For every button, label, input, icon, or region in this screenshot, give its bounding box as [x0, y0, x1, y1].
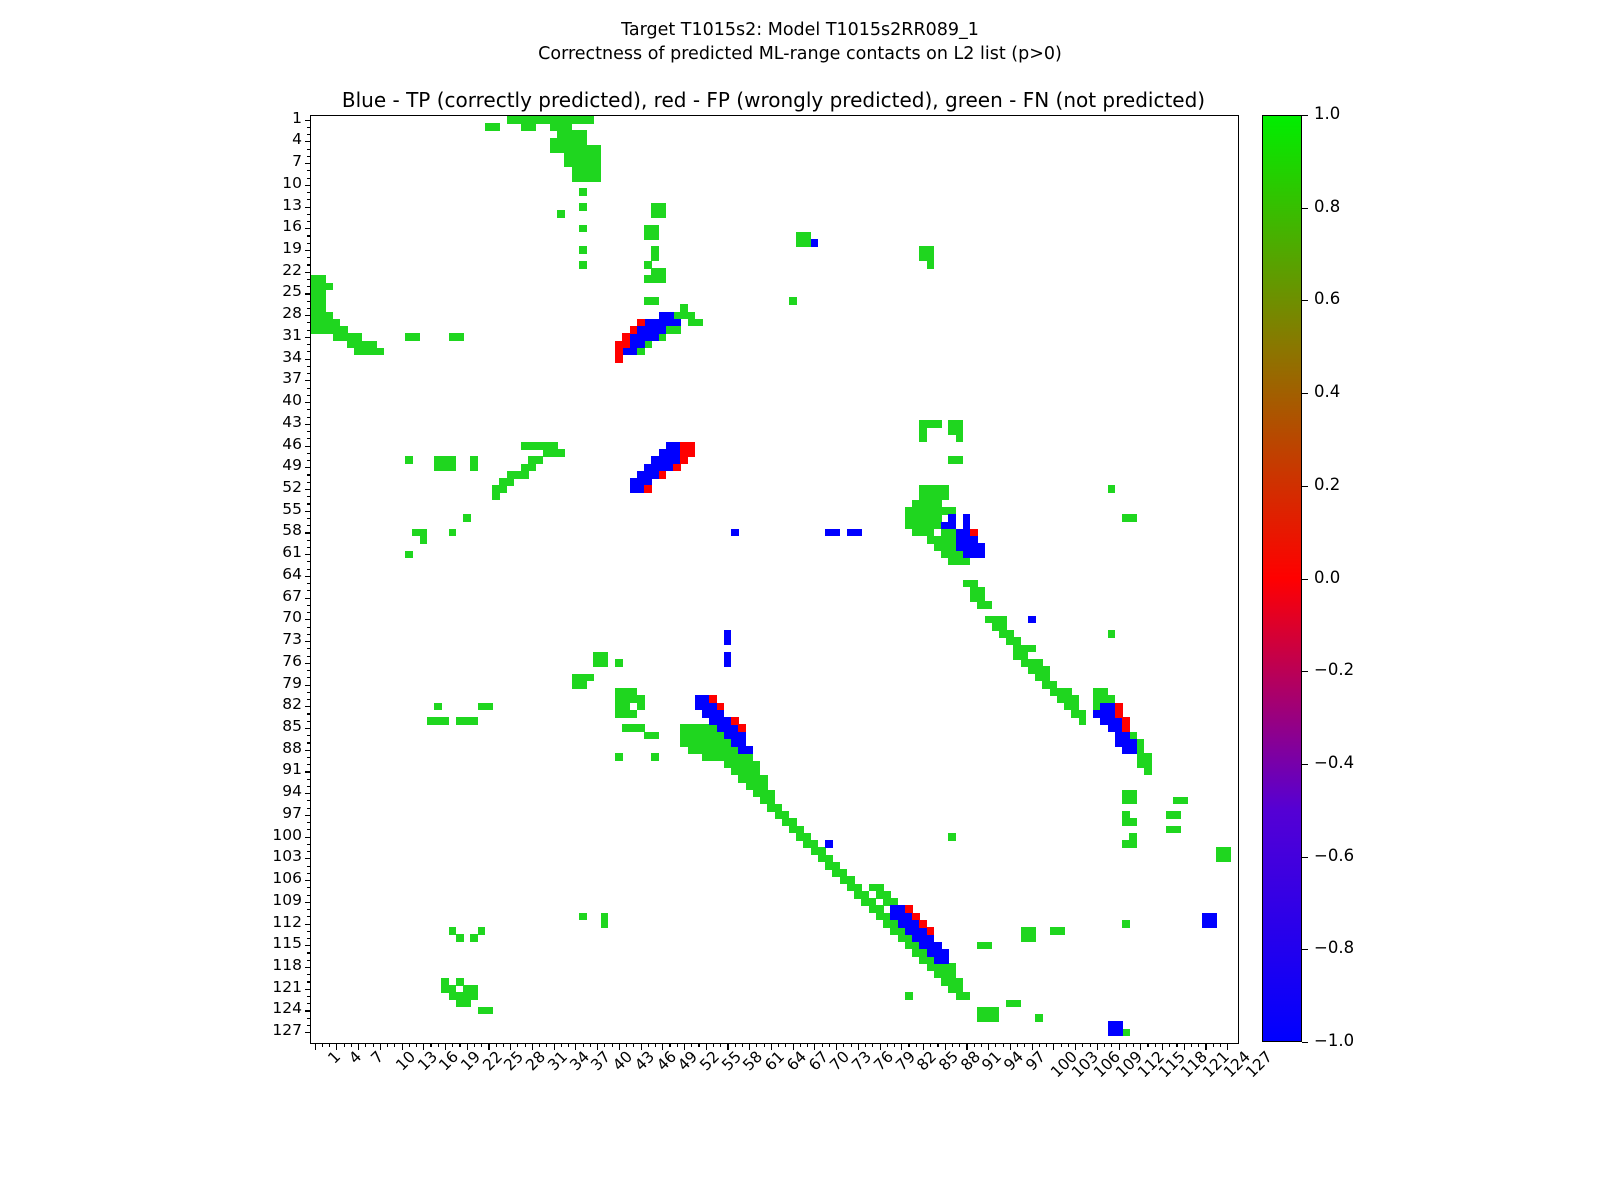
y-tick-minor — [307, 178, 311, 179]
y-tick-minor — [307, 583, 311, 584]
x-tick-minor — [1220, 1043, 1221, 1047]
contact-cell-fn — [1122, 920, 1130, 928]
y-tick-label: 1 — [292, 111, 302, 127]
y-tick-minor — [307, 822, 311, 823]
y-tick-label: 103 — [272, 849, 302, 865]
y-tick-label: 127 — [272, 1023, 302, 1039]
contact-cell-fn — [1013, 1000, 1021, 1008]
y-tick-minor — [307, 235, 311, 236]
x-tick-minor — [1082, 1043, 1083, 1047]
contact-cell-fn — [434, 703, 442, 711]
x-tick-minor — [742, 1043, 743, 1047]
x-tick-minor — [981, 1043, 982, 1047]
y-tick-major — [305, 945, 312, 946]
contact-cell-tp — [746, 746, 754, 754]
contact-cell-fn — [1173, 811, 1181, 819]
y-tick-label: 82 — [282, 697, 302, 713]
colorbar-tick — [1302, 300, 1308, 301]
contact-cell-fp — [970, 529, 978, 537]
contact-cell-fn — [956, 456, 964, 464]
y-tick-minor — [307, 453, 311, 454]
y-tick-minor — [307, 800, 311, 801]
contact-cell-fn — [557, 210, 565, 218]
y-tick-minor — [307, 1003, 311, 1004]
y-tick-major — [305, 380, 312, 381]
x-tick-minor — [713, 1043, 714, 1047]
y-tick-major — [305, 619, 312, 620]
contact-cell-tp — [811, 239, 819, 247]
x-tick-minor — [626, 1043, 627, 1047]
y-tick-minor — [307, 395, 311, 396]
contact-cell-fn — [470, 992, 478, 1000]
x-tick-minor — [829, 1043, 830, 1047]
contact-cell-fn — [644, 341, 652, 349]
x-tick-minor — [1169, 1043, 1170, 1047]
contact-cell-fn — [1122, 1029, 1130, 1037]
x-tick-minor — [1003, 1043, 1004, 1047]
contact-cell-fn — [521, 471, 529, 479]
y-tick-label: 64 — [282, 567, 302, 583]
y-tick-minor — [307, 931, 311, 932]
y-tick-minor — [307, 786, 311, 787]
contact-cell-fn — [630, 710, 638, 718]
contact-cell-fn — [1129, 840, 1137, 848]
contact-cell-fn — [695, 319, 703, 327]
y-tick-minor — [307, 895, 311, 896]
title-line-1: Target T1015s2: Model T1015s2RR089_1 — [0, 18, 1600, 42]
y-tick-minor — [307, 873, 311, 874]
contact-cell-fn — [1129, 514, 1137, 522]
contact-cell-fn — [579, 188, 587, 196]
contact-cell-fn — [557, 449, 565, 457]
y-tick-minor — [307, 127, 311, 128]
y-tick-minor — [307, 648, 311, 649]
y-tick-minor — [307, 960, 311, 961]
contact-cell-fn — [325, 283, 333, 291]
contact-cell-fn — [1108, 630, 1116, 638]
x-tick-minor — [1176, 1043, 1177, 1047]
contact-cell-fn — [956, 435, 964, 443]
y-tick-label: 85 — [282, 719, 302, 735]
contact-cell-fn — [485, 703, 493, 711]
y-tick-label: 115 — [272, 936, 302, 952]
y-tick-label: 31 — [282, 328, 302, 344]
contact-cell-fn — [528, 464, 536, 472]
contact-cell-fn — [963, 992, 971, 1000]
x-tick-minor — [691, 1043, 692, 1047]
y-tick-minor — [307, 909, 311, 910]
y-tick-minor — [307, 670, 311, 671]
y-tick-minor — [307, 742, 311, 743]
x-tick-minor — [1068, 1043, 1069, 1047]
y-tick-label: 121 — [272, 980, 302, 996]
contact-cell-fn — [1028, 934, 1036, 942]
y-tick-minor — [307, 1025, 311, 1026]
y-tick-minor — [307, 170, 311, 171]
contact-cell-tp — [673, 319, 681, 327]
colorbar-tick-label: 0.2 — [1314, 477, 1340, 494]
y-tick-major — [305, 728, 312, 729]
colorbar-tick-label: 0.4 — [1314, 384, 1340, 401]
y-tick-minor — [307, 866, 311, 867]
y-tick-label: 112 — [272, 915, 302, 931]
contact-cell-tp — [1129, 746, 1137, 754]
y-tick-label: 52 — [282, 480, 302, 496]
y-tick-minor — [307, 887, 311, 888]
contact-cell-fn — [456, 333, 464, 341]
colorbar-tick — [1302, 1042, 1308, 1043]
y-tick-label: 109 — [272, 893, 302, 909]
y-tick-minor — [307, 634, 311, 635]
contact-cell-fn — [456, 934, 464, 942]
y-tick-minor — [307, 605, 311, 606]
y-tick-minor — [307, 243, 311, 244]
y-tick-major — [305, 228, 312, 229]
contact-cell-fp — [659, 471, 667, 479]
x-tick-minor — [1039, 1043, 1040, 1047]
x-tick-minor — [1017, 1043, 1018, 1047]
x-tick-minor — [365, 1043, 366, 1047]
x-tick-minor — [764, 1043, 765, 1047]
y-tick-minor — [307, 388, 311, 389]
y-tick-minor — [307, 764, 311, 765]
y-tick-label: 73 — [282, 632, 302, 648]
y-tick-major — [305, 250, 312, 251]
contact-cell-fn — [927, 261, 935, 269]
y-tick-label: 13 — [282, 198, 302, 214]
colorbar-tick — [1302, 579, 1308, 580]
contact-cell-fn — [1173, 826, 1181, 834]
contact-cell-fn — [615, 753, 623, 761]
y-tick-minor — [307, 569, 311, 570]
contact-cell-fn — [992, 1014, 1000, 1022]
x-tick-minor — [735, 1043, 736, 1047]
x-axis-labels: 1471013161922252831343740434649525558616… — [310, 1049, 1250, 1139]
contact-cell-fn — [478, 927, 486, 935]
contact-cell-fn — [1129, 818, 1137, 826]
y-tick-major — [305, 532, 312, 533]
x-tick-minor — [894, 1043, 895, 1047]
x-tick-minor — [344, 1043, 345, 1047]
contact-cell-fn — [637, 703, 645, 711]
x-tick-minor — [1147, 1043, 1148, 1047]
legend-subtitle: Blue - TP (correctly predicted), red - F… — [310, 88, 1237, 112]
contact-cell-fn — [659, 275, 667, 283]
y-tick-major — [305, 120, 312, 121]
x-tick-label: 127 — [1244, 1049, 1276, 1081]
x-tick-minor — [937, 1043, 938, 1047]
y-tick-minor — [307, 952, 311, 953]
contact-cell-fn — [470, 934, 478, 942]
y-tick-major — [305, 967, 312, 968]
x-tick-minor — [807, 1043, 808, 1047]
y-axis-labels: 1471013161922252831343740434649525558616… — [255, 115, 302, 1042]
x-tick-minor — [387, 1043, 388, 1047]
contact-cell-fp — [622, 341, 630, 349]
y-tick-minor — [307, 916, 311, 917]
y-tick-major — [305, 315, 312, 316]
contact-cell-tp — [731, 529, 739, 537]
contact-cell-fn — [405, 456, 413, 464]
contact-cell-fn — [405, 551, 413, 559]
x-tick-label: 4 — [347, 1049, 365, 1067]
contact-cell-fn — [470, 464, 478, 472]
y-tick-minor — [307, 627, 311, 628]
y-tick-label: 70 — [282, 610, 302, 626]
y-tick-label: 76 — [282, 654, 302, 670]
contact-cell-tp — [1028, 616, 1036, 624]
y-tick-label: 10 — [282, 176, 302, 192]
contact-cell-fn — [536, 456, 544, 464]
y-tick-label: 94 — [282, 784, 302, 800]
y-tick-major — [305, 924, 312, 925]
contact-cell-fn — [905, 992, 913, 1000]
y-tick-minor — [307, 518, 311, 519]
y-tick-minor — [307, 149, 311, 150]
x-tick-label: 97 — [1024, 1049, 1049, 1074]
y-tick-minor — [307, 301, 311, 302]
x-tick-minor — [843, 1043, 844, 1047]
x-tick-minor — [822, 1043, 823, 1047]
y-tick-major — [305, 337, 312, 338]
x-tick-minor — [416, 1043, 417, 1047]
contact-cell-fn — [637, 348, 645, 356]
contact-cell-tp — [1209, 920, 1217, 928]
colorbar-gradient — [1262, 115, 1302, 1042]
contact-cell-fn — [673, 326, 681, 334]
y-tick-major — [305, 685, 312, 686]
contact-cell-fn — [601, 920, 609, 928]
colorbar-tick-label: 0.6 — [1314, 291, 1340, 308]
contact-cell-fn — [412, 333, 420, 341]
contact-cell-tp — [832, 529, 840, 537]
y-tick-major — [305, 424, 312, 425]
y-tick-minor — [307, 735, 311, 736]
contact-cell-tp — [1115, 1029, 1123, 1037]
x-tick-minor — [452, 1043, 453, 1047]
x-tick-minor — [655, 1043, 656, 1047]
contact-cell-fn — [934, 420, 942, 428]
x-tick-minor — [568, 1043, 569, 1047]
colorbar-tick-label: 0.8 — [1314, 199, 1340, 216]
y-tick-minor — [307, 214, 311, 215]
x-tick-minor — [394, 1043, 395, 1047]
contact-cell-tp — [651, 333, 659, 341]
contact-cell-tp — [659, 326, 667, 334]
x-tick-minor — [952, 1043, 953, 1047]
contact-cell-fn — [507, 478, 515, 486]
x-tick-minor — [1024, 1043, 1025, 1047]
y-tick-label: 49 — [282, 458, 302, 474]
y-tick-label: 37 — [282, 371, 302, 387]
y-tick-minor — [307, 525, 311, 526]
y-tick-major — [305, 598, 312, 599]
contact-cell-tp — [941, 956, 949, 964]
y-tick-minor — [307, 366, 311, 367]
x-tick-minor — [698, 1043, 699, 1047]
y-tick-minor — [307, 496, 311, 497]
contact-cell-fn — [1144, 768, 1152, 776]
x-tick-minor — [503, 1043, 504, 1047]
contact-cell-fn — [1180, 797, 1188, 805]
y-tick-major — [305, 359, 312, 360]
y-tick-label: 91 — [282, 762, 302, 778]
y-tick-label: 46 — [282, 437, 302, 453]
y-tick-minor — [307, 192, 311, 193]
contact-cell-tp — [977, 551, 985, 559]
x-tick-minor — [329, 1043, 330, 1047]
contact-cell-tp — [825, 840, 833, 848]
colorbar-tick-label: −0.8 — [1314, 940, 1354, 957]
y-tick-minor — [307, 431, 311, 432]
contact-cell-fn — [919, 435, 927, 443]
y-tick-minor — [307, 721, 311, 722]
contact-cell-fn — [463, 1000, 471, 1008]
y-tick-major — [305, 467, 312, 468]
colorbar-tick-label: 0.0 — [1314, 570, 1340, 587]
y-tick-minor — [307, 590, 311, 591]
contact-cell-fn — [1224, 855, 1232, 863]
colorbar-tick — [1302, 115, 1308, 116]
y-tick-label: 67 — [282, 589, 302, 605]
x-tick-minor — [438, 1043, 439, 1047]
contact-cell-fp — [673, 464, 681, 472]
contact-map-cells[interactable] — [311, 116, 1238, 1043]
y-tick-label: 4 — [292, 132, 302, 148]
x-tick-minor — [872, 1043, 873, 1047]
contact-cell-fn — [579, 913, 587, 921]
y-tick-minor — [307, 699, 311, 700]
contact-cell-tp — [724, 659, 732, 667]
contact-cell-fp — [615, 355, 623, 363]
x-tick-minor — [887, 1043, 888, 1047]
x-tick-minor — [539, 1043, 540, 1047]
y-tick-major — [305, 1032, 312, 1033]
contact-cell-fn — [985, 942, 993, 950]
y-tick-minor — [307, 417, 311, 418]
y-tick-major — [305, 446, 312, 447]
y-tick-major — [305, 163, 312, 164]
x-tick-minor — [959, 1043, 960, 1047]
x-tick-minor — [908, 1043, 909, 1047]
title-line-2: Correctness of predicted ML-range contac… — [0, 42, 1600, 66]
y-tick-major — [305, 489, 312, 490]
y-tick-label: 25 — [282, 284, 302, 300]
y-tick-minor — [307, 779, 311, 780]
y-tick-minor — [307, 851, 311, 852]
colorbar-tick-label: 1.0 — [1314, 106, 1340, 123]
y-tick-label: 16 — [282, 219, 302, 235]
colorbar-tick — [1302, 764, 1308, 765]
y-tick-major — [305, 185, 312, 186]
x-tick-minor — [785, 1043, 786, 1047]
contact-cell-fn — [579, 681, 587, 689]
y-tick-minor — [307, 540, 311, 541]
colorbar: 1.00.80.60.40.20.0−0.2−0.4−0.6−0.8−1.0 — [1262, 115, 1302, 1042]
x-tick-minor — [669, 1043, 670, 1047]
x-tick-minor — [1191, 1043, 1192, 1047]
contact-cell-fn — [1108, 485, 1116, 493]
y-tick-major — [305, 141, 312, 142]
y-tick-minor — [307, 656, 311, 657]
y-tick-minor — [307, 561, 311, 562]
x-tick-minor — [633, 1043, 634, 1047]
y-tick-minor — [307, 279, 311, 280]
contact-cell-fn — [586, 674, 594, 682]
x-tick-minor — [1155, 1043, 1156, 1047]
y-tick-label: 88 — [282, 741, 302, 757]
x-tick-minor — [474, 1043, 475, 1047]
y-tick-minor — [307, 938, 311, 939]
contact-cell-fn — [1035, 1014, 1043, 1022]
y-tick-minor — [307, 257, 311, 258]
contact-cell-fp — [1122, 724, 1130, 732]
y-tick-label: 40 — [282, 393, 302, 409]
contact-map-plot[interactable] — [310, 115, 1239, 1044]
contact-cell-fp — [927, 927, 935, 935]
x-tick-minor — [1213, 1043, 1214, 1047]
contact-cell-fn — [420, 536, 428, 544]
y-tick-major — [305, 663, 312, 664]
colorbar-tick — [1302, 393, 1308, 394]
contact-cell-fp — [644, 485, 652, 493]
y-tick-major — [305, 402, 312, 403]
contact-cell-fn — [441, 717, 449, 725]
contact-cell-fn — [499, 485, 507, 493]
contact-cell-fp — [630, 326, 638, 334]
x-tick-minor — [1104, 1043, 1105, 1047]
contact-cell-fn — [985, 601, 993, 609]
y-tick-major — [305, 554, 312, 555]
x-tick-minor — [865, 1043, 866, 1047]
contact-cell-fn — [485, 1007, 493, 1015]
contact-cell-fn — [449, 464, 457, 472]
contact-cell-fn — [659, 333, 667, 341]
x-tick-minor — [1111, 1043, 1112, 1047]
y-tick-label: 97 — [282, 806, 302, 822]
x-tick-minor — [1133, 1043, 1134, 1047]
colorbar-tick — [1302, 857, 1308, 858]
y-tick-major — [305, 815, 312, 816]
y-tick-label: 28 — [282, 306, 302, 322]
x-tick-minor — [322, 1043, 323, 1047]
y-tick-minor — [307, 199, 311, 200]
y-tick-label: 34 — [282, 350, 302, 366]
colorbar-tick — [1302, 486, 1308, 487]
x-tick-minor — [373, 1043, 374, 1047]
contact-cell-tp — [854, 529, 862, 537]
contact-cell-fn — [579, 261, 587, 269]
contact-cell-fn — [941, 493, 949, 501]
contact-cell-fn — [1028, 645, 1036, 653]
y-tick-label: 58 — [282, 523, 302, 539]
contact-cell-fn — [586, 116, 594, 124]
y-tick-label: 19 — [282, 241, 302, 257]
x-tick-minor — [351, 1043, 352, 1047]
x-tick-minor — [720, 1043, 721, 1047]
y-tick-label: 7 — [292, 154, 302, 170]
y-tick-major — [305, 771, 312, 772]
y-tick-minor — [307, 438, 311, 439]
x-tick-minor — [1061, 1043, 1062, 1047]
y-tick-major — [305, 837, 312, 838]
x-tick-minor — [459, 1043, 460, 1047]
y-tick-major — [305, 576, 312, 577]
y-tick-minor — [307, 221, 311, 222]
contact-cell-tp — [637, 341, 645, 349]
contact-cell-fn — [1079, 717, 1087, 725]
y-tick-minor — [307, 981, 311, 982]
